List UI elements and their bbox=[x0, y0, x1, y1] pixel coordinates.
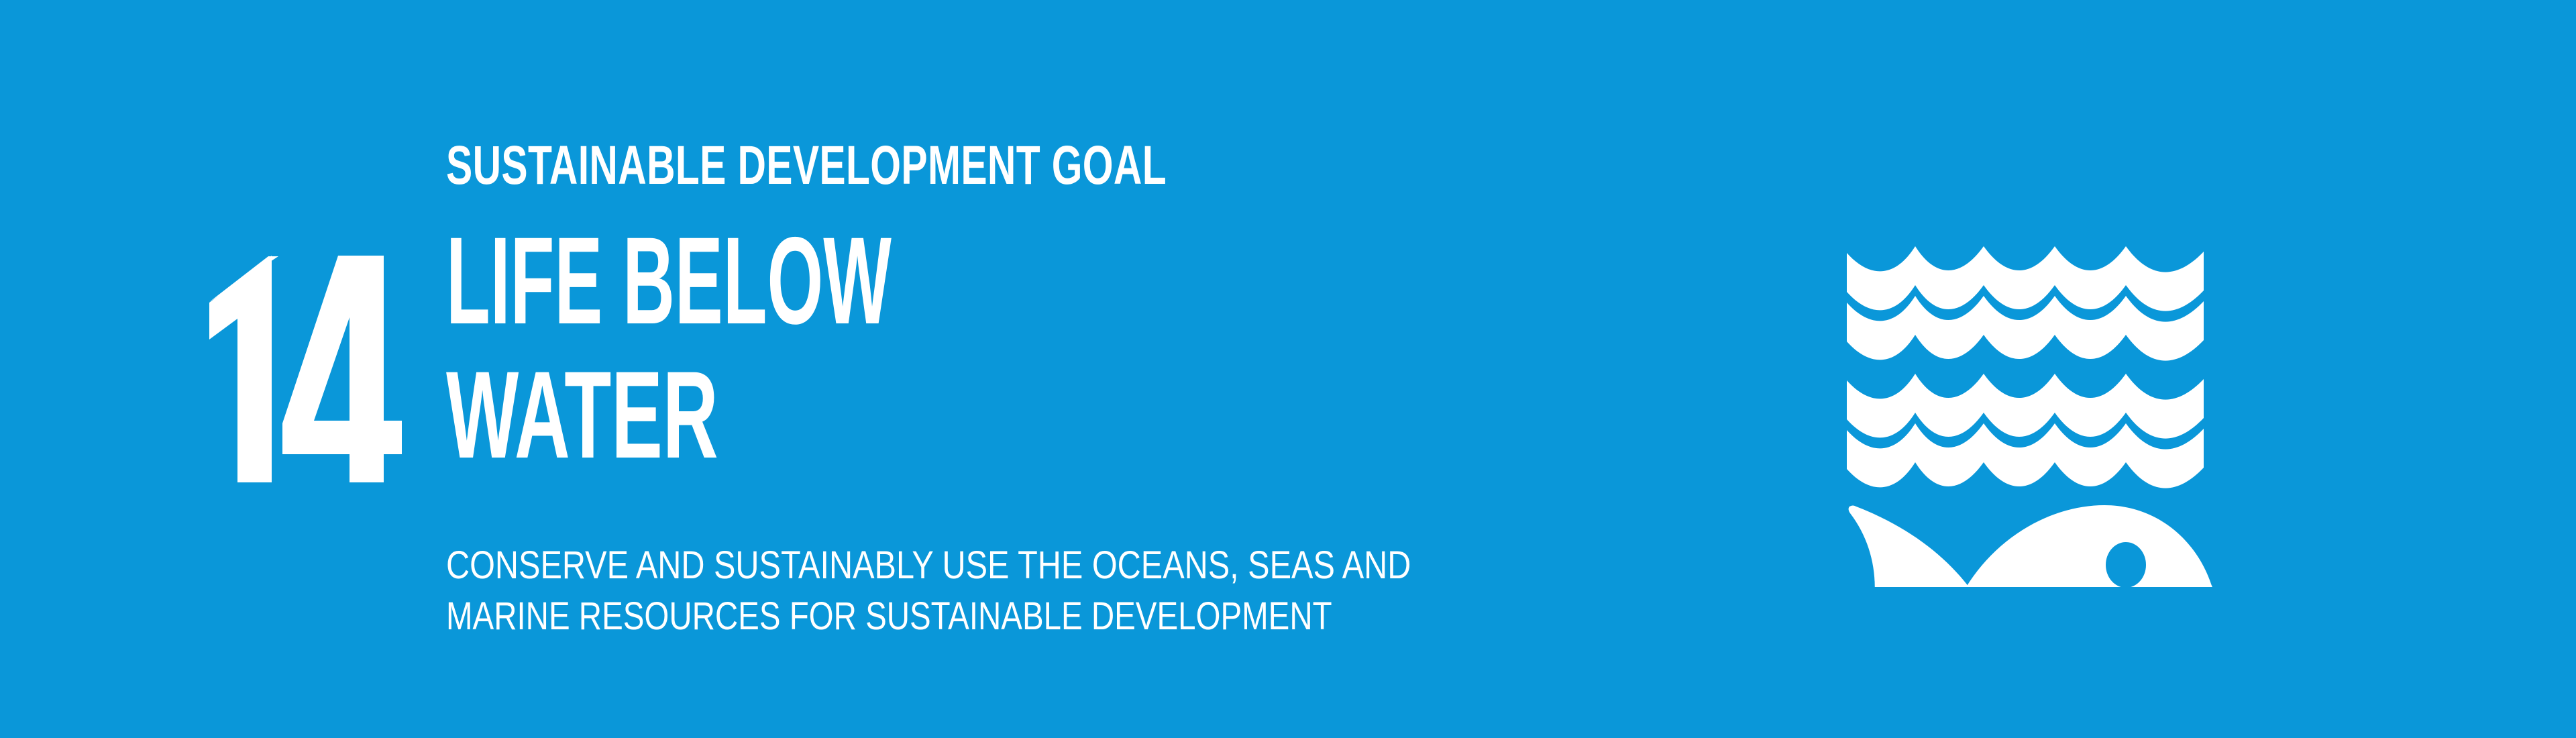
goal-number-glyphs: 14 bbox=[182, 238, 411, 500]
subtitle-line-1-content: CONSERVE AND SUSTAINABLY USE THE OCEANS,… bbox=[446, 543, 1411, 587]
fish-eye bbox=[2106, 542, 2146, 587]
fish-tail bbox=[1849, 506, 1969, 588]
goal-number: 14 bbox=[182, 238, 411, 500]
digit-four bbox=[282, 256, 402, 482]
sdg-14-banner: SUSTAINABLE DEVELOPMENT GOAL LIFE BELOW … bbox=[0, 0, 2576, 738]
fish-body bbox=[1966, 505, 2212, 587]
headline-line-2: WATER bbox=[446, 356, 735, 473]
wave-row-3 bbox=[1847, 374, 2204, 439]
eyebrow-text: SUSTAINABLE DEVELOPMENT GOAL bbox=[446, 137, 1184, 195]
wave-band-bottom-icon bbox=[1847, 374, 2204, 488]
fish-and-waves-icon bbox=[1841, 238, 2214, 587]
subtitle-line-1-text: CONSERVE AND SUSTAINABLY USE THE OCEANS,… bbox=[446, 545, 1419, 586]
headline-line-1-text: LIFE BELOW bbox=[446, 221, 916, 339]
headline-line-1-content: LIFE BELOW bbox=[446, 211, 892, 350]
headline-line-2-text: WATER bbox=[446, 356, 735, 473]
subtitle-line-2-text: MARINE RESOURCES FOR SUSTAINABLE DEVELOP… bbox=[446, 596, 1338, 637]
subtitle-line-1: CONSERVE AND SUSTAINABLY USE THE OCEANS,… bbox=[446, 545, 1419, 586]
fish-icon bbox=[1849, 505, 2212, 587]
icon-artwork bbox=[1841, 238, 2214, 587]
headline-line-2-content: WATER bbox=[446, 346, 718, 484]
text-block: SUSTAINABLE DEVELOPMENT GOAL LIFE BELOW … bbox=[446, 0, 1654, 738]
wave-band-top-icon bbox=[1847, 246, 2204, 361]
subtitle-line-2-content: MARINE RESOURCES FOR SUSTAINABLE DEVELOP… bbox=[446, 594, 1332, 638]
digit-one-shape bbox=[209, 256, 272, 482]
wave-row-1 bbox=[1847, 246, 2204, 311]
headline-line-1: LIFE BELOW bbox=[446, 221, 916, 339]
eyebrow-label: SUSTAINABLE DEVELOPMENT GOAL bbox=[446, 137, 1184, 195]
eyebrow-text-content: SUSTAINABLE DEVELOPMENT GOAL bbox=[446, 135, 1167, 196]
subtitle-line-2: MARINE RESOURCES FOR SUSTAINABLE DEVELOP… bbox=[446, 596, 1338, 637]
